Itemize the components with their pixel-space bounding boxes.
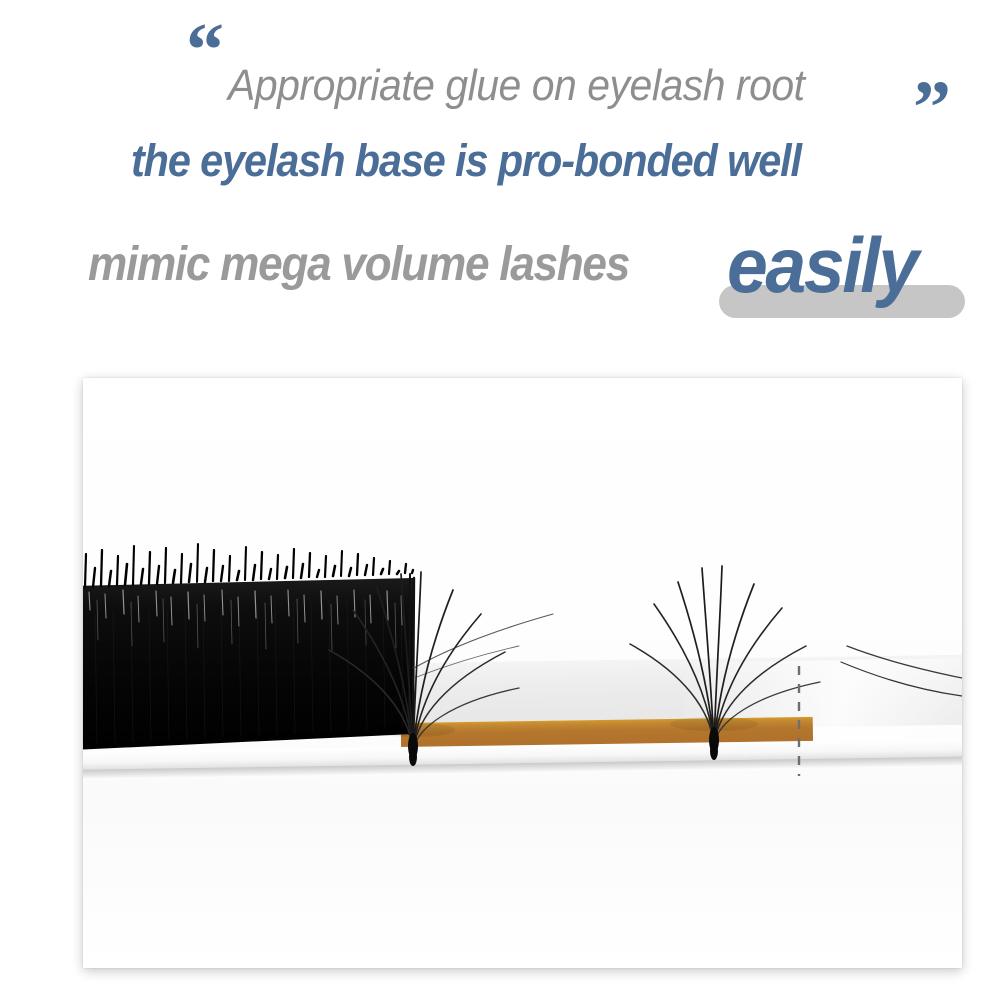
lash-illustration: [83, 378, 962, 968]
product-photo: 12mm: [83, 378, 962, 968]
headline-line-2: the eyelash base is pro-bonded well: [131, 137, 801, 184]
product-photo-card: 12mm: [83, 378, 962, 968]
lash-fan-3-partial: [841, 646, 962, 696]
headline-line-1: Appropriate glue on eyelash root: [228, 63, 860, 109]
fan-contact-shadows: [371, 717, 758, 737]
headline-line-3-plain: mimic mega volume lashes: [88, 240, 629, 290]
headline-line-3-accent: easily: [727, 225, 917, 307]
quote-close-icon: ”: [913, 70, 949, 146]
stray-lash-fibers: [414, 614, 553, 678]
lash-fan-2: [630, 566, 820, 760]
headline-line-3: mimic mega volume lashes easily: [88, 234, 978, 326]
quote-open-icon: “: [186, 12, 222, 88]
promo-page: { "headline": { "quote_open": "\u201C", …: [0, 0, 1000, 1000]
dense-lash-block: [83, 544, 414, 750]
headline-block: “ Appropriate glue on eyelash root ” the…: [0, 0, 1000, 340]
